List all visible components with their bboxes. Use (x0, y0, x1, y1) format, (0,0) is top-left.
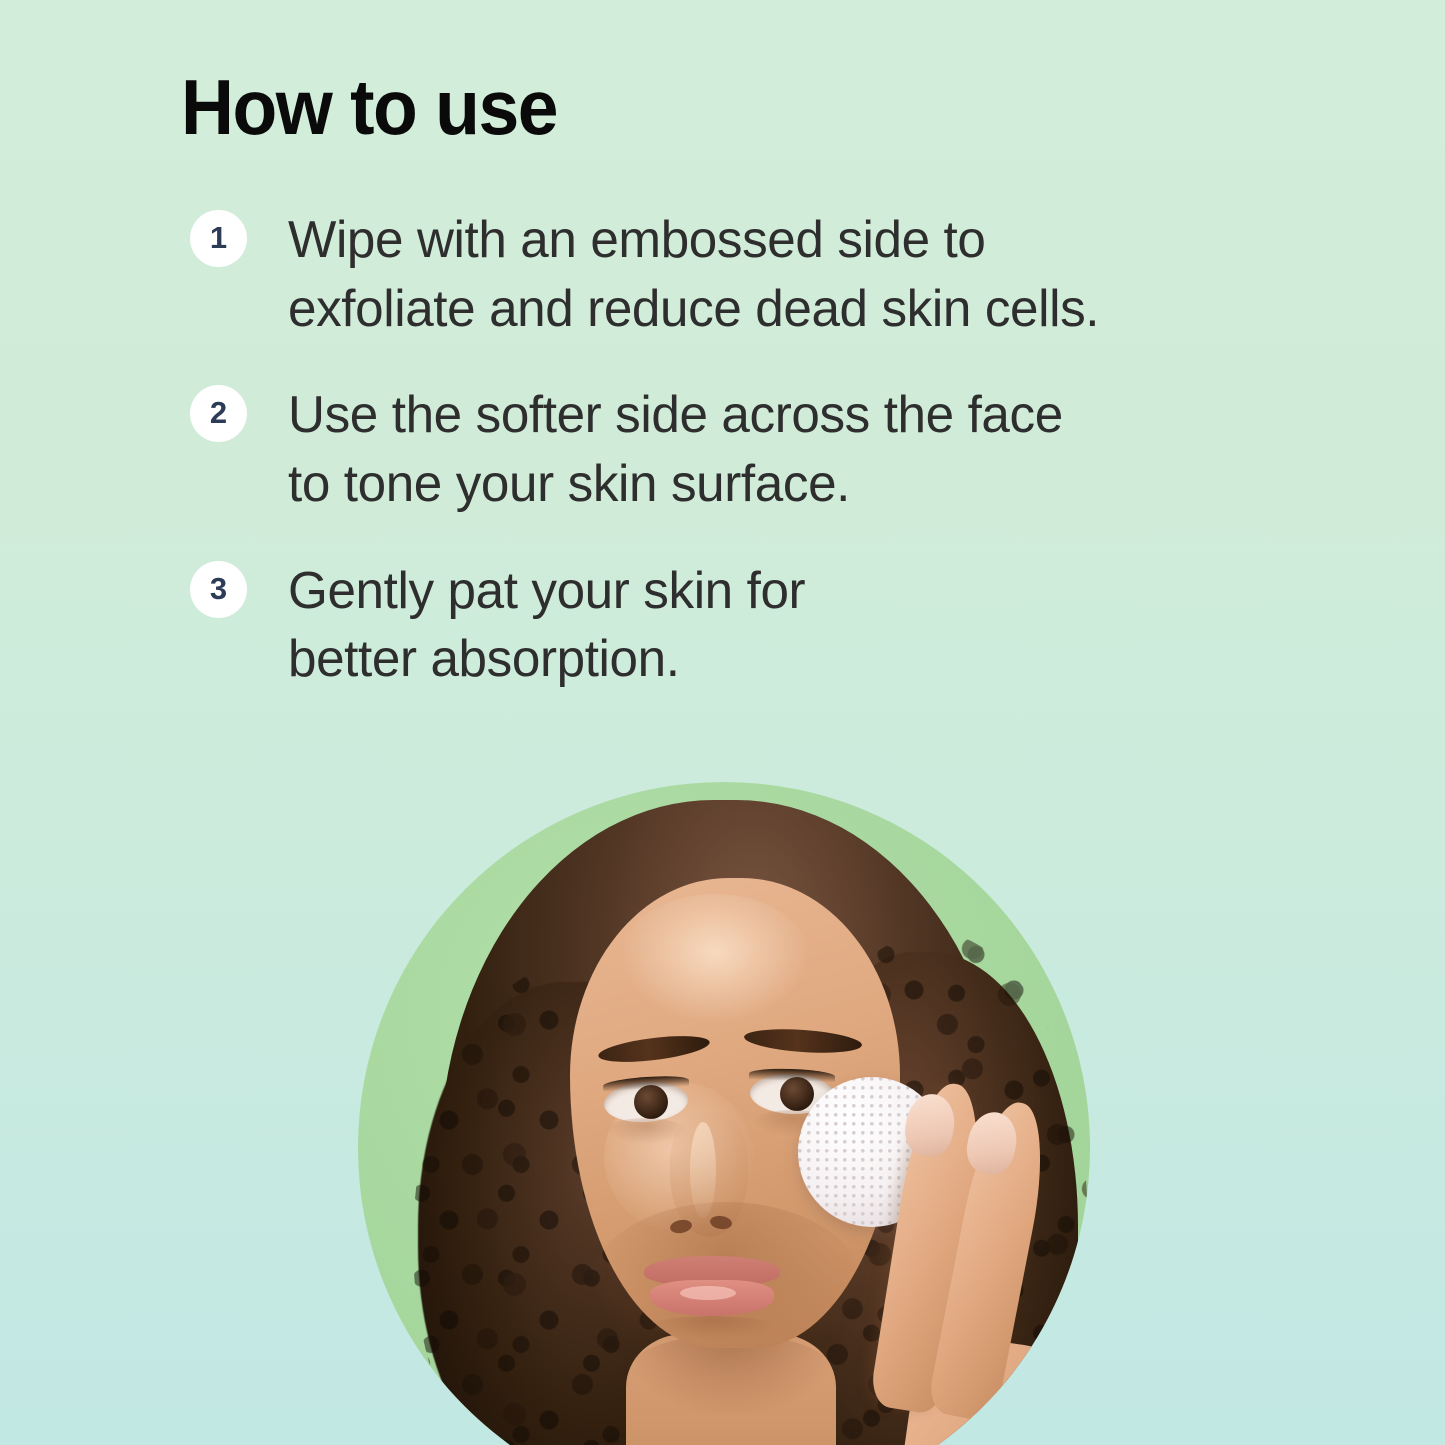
under-eye-left (606, 1118, 686, 1144)
jaw-shadow (586, 1202, 866, 1382)
hair-texture-left (413, 962, 743, 1445)
list-item: 1 Wipe with an embossed side to exfoliat… (190, 206, 1290, 343)
list-item: 2 Use the softer side across the face to… (190, 381, 1290, 518)
iris-left (634, 1085, 668, 1119)
list-item: 3 Gently pat your skin for better absorp… (190, 557, 1290, 694)
green-accent-disc (358, 782, 1090, 1445)
lip-highlight (680, 1286, 736, 1300)
step-number-label: 3 (210, 573, 227, 604)
how-to-use-step-list: 1 Wipe with an embossed side to exfoliat… (190, 206, 1290, 732)
hair-left-curls (418, 982, 718, 1445)
step-number-label: 1 (210, 222, 227, 253)
fingernail-index (901, 1091, 958, 1160)
iris-right (780, 1077, 814, 1111)
step-text-line: Gently pat your skin for (288, 557, 1275, 626)
step-text-line: exfoliate and reduce dead skin cells. (288, 275, 1275, 344)
face (570, 878, 900, 1348)
step-number-badge: 3 (190, 561, 247, 618)
finger-middle (926, 1096, 1056, 1423)
eye-right (749, 1073, 834, 1116)
hair-crown (440, 800, 1010, 1445)
eye-left (603, 1079, 690, 1125)
under-eye-right (752, 1110, 832, 1136)
step-text: Use the softer side across the face to t… (288, 381, 1275, 518)
nostril-left (669, 1218, 693, 1235)
forehead-highlight (620, 894, 810, 1024)
eyelash-right (749, 1068, 835, 1083)
hair-right-curls (788, 952, 1078, 1445)
model-photo (358, 782, 1090, 1445)
mouth-shadow (650, 1316, 776, 1338)
eyebrow-right (743, 1026, 862, 1056)
upper-lip (644, 1256, 780, 1286)
ear (880, 1114, 934, 1210)
neck-shadow (626, 1334, 836, 1414)
neck (626, 1334, 836, 1445)
step-text-line: Wipe with an embossed side to (288, 206, 1275, 275)
hand (893, 1330, 1090, 1445)
hair-texture-right (778, 932, 1088, 1445)
step-number-badge: 1 (190, 210, 247, 267)
fingernail-middle (963, 1108, 1022, 1178)
step-number-label: 2 (210, 397, 227, 428)
step-text-line: to tone your skin surface. (288, 450, 1275, 519)
photo-vignette (358, 782, 1090, 1445)
step-text-line: Use the softer side across the face (288, 381, 1275, 450)
finger-index (869, 1078, 992, 1415)
cheek-highlight (604, 1082, 754, 1232)
eyelash-left (603, 1074, 690, 1092)
step-number-badge: 2 (190, 385, 247, 442)
how-to-use-card: How to use 1 Wipe with an embossed side … (0, 0, 1445, 1445)
lower-lip (650, 1280, 774, 1316)
eyebrow-left (597, 1031, 711, 1066)
exfoliating-pad (798, 1077, 946, 1227)
nostril-right (709, 1215, 733, 1231)
page-title: How to use (181, 68, 557, 146)
nose (670, 1112, 748, 1237)
step-text: Wipe with an embossed side to exfoliate … (288, 206, 1275, 343)
nose-highlight (690, 1122, 716, 1218)
step-text-line: better absorption. (288, 625, 1275, 694)
step-text: Gently pat your skin for better absorpti… (288, 557, 1275, 694)
